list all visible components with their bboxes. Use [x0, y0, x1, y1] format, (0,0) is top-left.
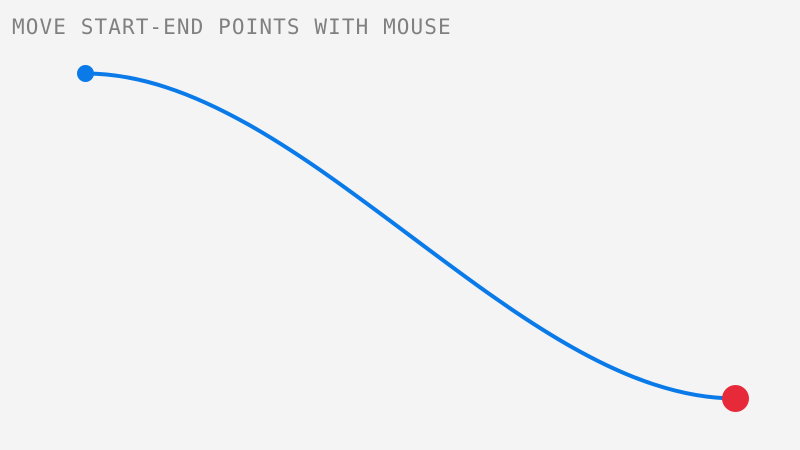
page-title: MOVE START-END POINTS WITH MOUSE: [12, 14, 452, 40]
end-point-handle[interactable]: [722, 385, 749, 412]
bezier-curve-path: [86, 74, 736, 399]
start-point-handle[interactable]: [77, 65, 94, 82]
curve-svg: [0, 0, 800, 450]
curve-editor-canvas[interactable]: MOVE START-END POINTS WITH MOUSE: [0, 0, 800, 450]
